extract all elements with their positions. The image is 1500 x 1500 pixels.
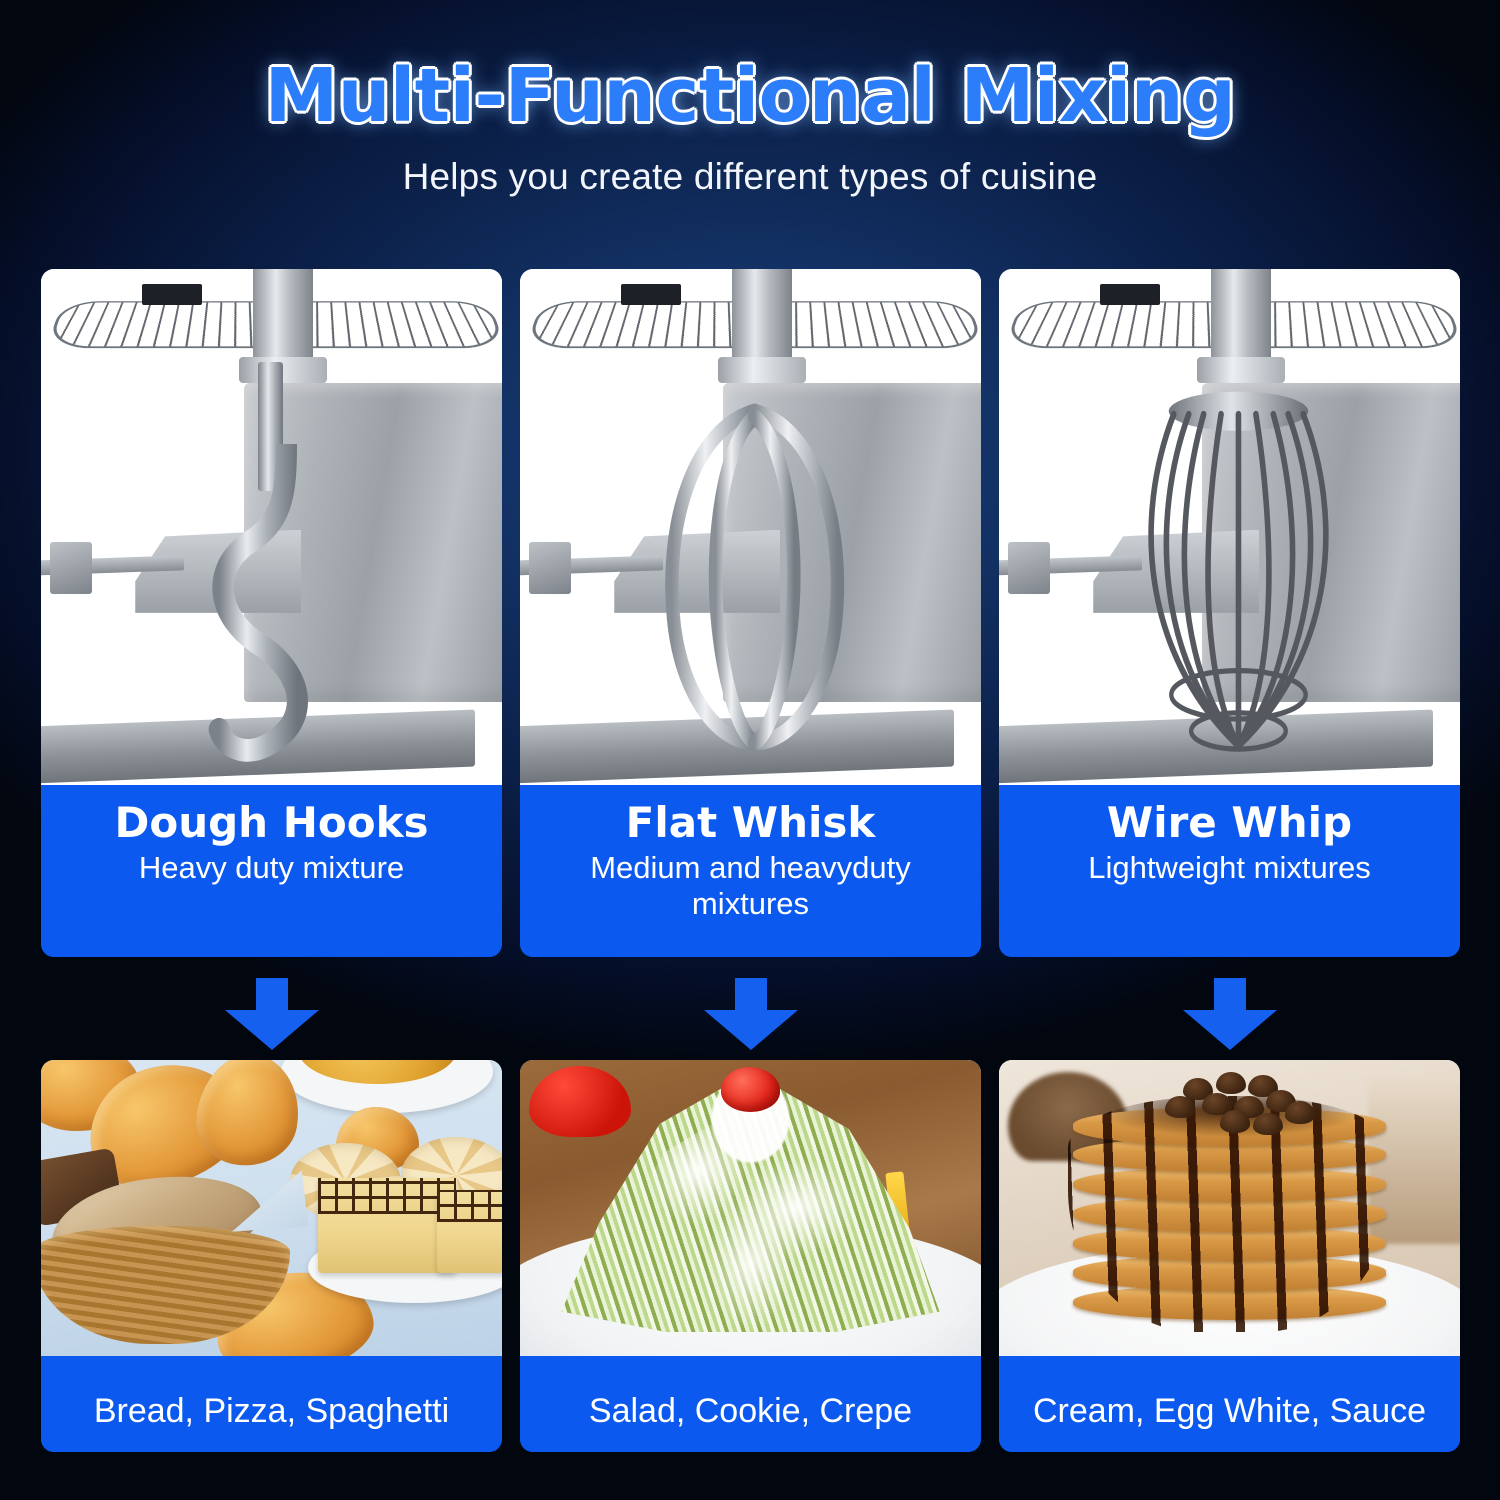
attachment-subtitle: Lightweight mixtures bbox=[1011, 850, 1448, 886]
down-arrow-icon bbox=[704, 978, 798, 1050]
wire-whip-caption: Wire Whip Lightweight mixtures bbox=[999, 785, 1460, 957]
attachment-subtitle: Heavy duty mixture bbox=[53, 850, 490, 886]
result-card-row: Bread, Pizza, Spaghetti bbox=[41, 1060, 1460, 1452]
salad-photo bbox=[520, 1060, 981, 1356]
wire-whip-photo bbox=[999, 269, 1460, 785]
dough-hook-caption: Dough Hooks Heavy duty mixture bbox=[41, 785, 502, 957]
infographic-page: Multi-Functional Mixing Helps you create… bbox=[0, 0, 1500, 1500]
attachment-card-row: Dough Hooks Heavy duty mixture bbox=[41, 269, 1460, 957]
attachment-card-dough-hooks[interactable]: Dough Hooks Heavy duty mixture bbox=[41, 269, 502, 957]
wire-whip-shape bbox=[1114, 372, 1363, 764]
result-caption-text: Cream, Egg White, Sauce bbox=[1011, 1370, 1448, 1431]
flat-whisk-photo bbox=[520, 269, 981, 785]
attachment-title: Wire Whip bbox=[1011, 799, 1448, 846]
down-arrow-icon bbox=[1183, 978, 1277, 1050]
arrow-cell-1 bbox=[41, 978, 502, 1050]
cherry-tomato bbox=[721, 1067, 781, 1111]
attachment-card-flat-whisk[interactable]: Flat Whisk Medium and heavyduty mixtures bbox=[520, 269, 981, 957]
arrow-row bbox=[41, 978, 1460, 1050]
page-subtitle: Helps you create different types of cuis… bbox=[0, 156, 1500, 198]
bakery-caption: Bread, Pizza, Spaghetti bbox=[41, 1356, 502, 1452]
dough-hook-shape bbox=[152, 444, 401, 764]
page-title: Multi-Functional Mixing bbox=[0, 58, 1500, 136]
attachment-title: Flat Whisk bbox=[532, 799, 969, 846]
result-caption-text: Bread, Pizza, Spaghetti bbox=[53, 1370, 490, 1431]
header: Multi-Functional Mixing Helps you create… bbox=[0, 0, 1500, 198]
pancakes-photo bbox=[999, 1060, 1460, 1356]
pancakes-caption: Cream, Egg White, Sauce bbox=[999, 1356, 1460, 1452]
flat-whisk-shape bbox=[621, 403, 888, 754]
attachment-subtitle: Medium and heavyduty mixtures bbox=[532, 850, 969, 922]
arrow-cell-2 bbox=[520, 978, 981, 1050]
attachment-card-wire-whip[interactable]: Wire Whip Lightweight mixtures bbox=[999, 269, 1460, 957]
result-card-bakery[interactable]: Bread, Pizza, Spaghetti bbox=[41, 1060, 502, 1452]
arrow-cell-3 bbox=[999, 978, 1460, 1050]
result-caption-text: Salad, Cookie, Crepe bbox=[532, 1370, 969, 1431]
down-arrow-icon bbox=[225, 978, 319, 1050]
attachment-title: Dough Hooks bbox=[53, 799, 490, 846]
result-card-salad[interactable]: Salad, Cookie, Crepe bbox=[520, 1060, 981, 1452]
bakery-photo bbox=[41, 1060, 502, 1356]
dough-hook-photo bbox=[41, 269, 502, 785]
flat-whisk-caption: Flat Whisk Medium and heavyduty mixtures bbox=[520, 785, 981, 957]
salad-caption: Salad, Cookie, Crepe bbox=[520, 1356, 981, 1452]
result-card-pancakes[interactable]: Cream, Egg White, Sauce bbox=[999, 1060, 1460, 1452]
